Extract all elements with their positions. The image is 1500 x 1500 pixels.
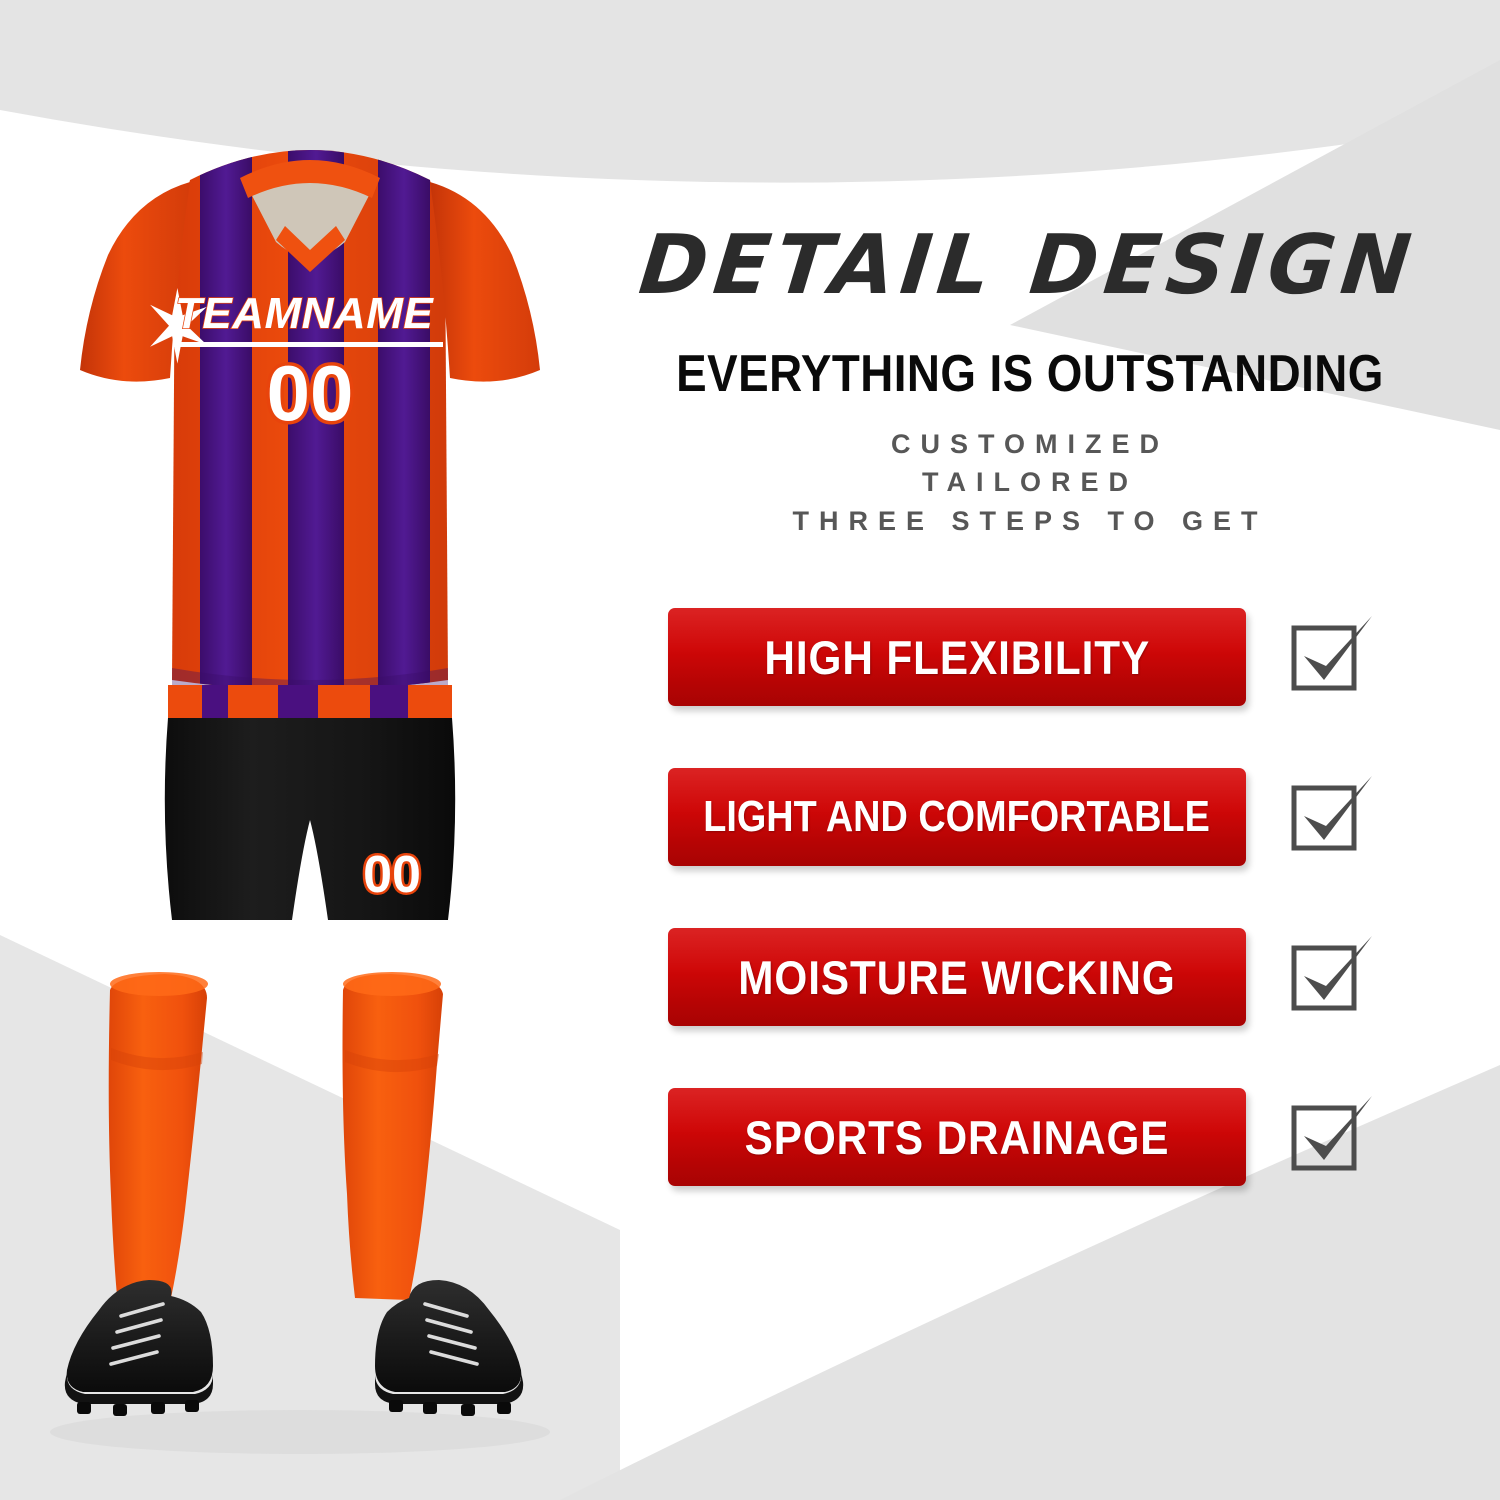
jersey-right-sleeve (430, 182, 540, 382)
check-square-icon (1288, 1094, 1374, 1180)
socks-and-cleats-image (55, 960, 555, 1460)
tagline-line-3: THREE STEPS TO GET (550, 502, 1500, 540)
product-marketing-banner: TEAMNAME 00 00 (0, 0, 1500, 1500)
jersey-name-underline (173, 342, 443, 347)
shorts-number: 00 (363, 846, 421, 904)
check-square-icon (1288, 614, 1374, 700)
marketing-copy-column: DETAIL DESIGN EVERYTHING IS OUTSTANDING … (540, 0, 1500, 1500)
page-subtitle: EVERYTHING IS OUTSTANDING (608, 348, 1453, 400)
feature-row: SPORTS DRAINAGE (668, 1088, 1428, 1186)
feature-label: LIGHT AND COMFORTABLE (704, 792, 1211, 842)
shorts-waistband (160, 680, 460, 724)
feature-banner-sports-drainage: SPORTS DRAINAGE (668, 1088, 1246, 1186)
feature-label: MOISTURE WICKING (738, 950, 1175, 1005)
feature-list: HIGH FLEXIBILITY LIGHT AND COMFORTABLE M… (668, 608, 1428, 1248)
right-cleat (375, 1280, 523, 1416)
left-cleat (65, 1280, 213, 1416)
feature-banner-light-and-comfortable: LIGHT AND COMFORTABLE (668, 768, 1246, 866)
tagline-group: CUSTOMIZED TAILORED THREE STEPS TO GET (550, 425, 1500, 540)
right-sock (343, 972, 444, 1300)
product-image-column: TEAMNAME 00 00 (0, 0, 620, 1500)
tagline-line-1: CUSTOMIZED (550, 425, 1500, 463)
check-square-icon (1288, 934, 1374, 1020)
jersey-team-name: TEAMNAME (175, 289, 434, 338)
feature-banner-moisture-wicking: MOISTURE WICKING (668, 928, 1246, 1026)
feature-row: HIGH FLEXIBILITY (668, 608, 1428, 706)
feature-label: HIGH FLEXIBILITY (764, 630, 1150, 685)
jersey-left-sleeve (80, 182, 190, 382)
jersey-number: 00 (267, 349, 354, 437)
feature-banner-high-flexibility: HIGH FLEXIBILITY (668, 608, 1246, 706)
feature-label: SPORTS DRAINAGE (745, 1110, 1170, 1165)
feature-row: MOISTURE WICKING (668, 928, 1428, 1026)
page-title: DETAIL DESIGN (624, 225, 1433, 307)
left-sock (109, 972, 208, 1298)
check-square-icon (1288, 774, 1374, 860)
feature-row: LIGHT AND COMFORTABLE (668, 768, 1428, 866)
jersey-and-shorts-image: TEAMNAME 00 00 (40, 120, 580, 960)
tagline-line-2: TAILORED (550, 463, 1500, 501)
